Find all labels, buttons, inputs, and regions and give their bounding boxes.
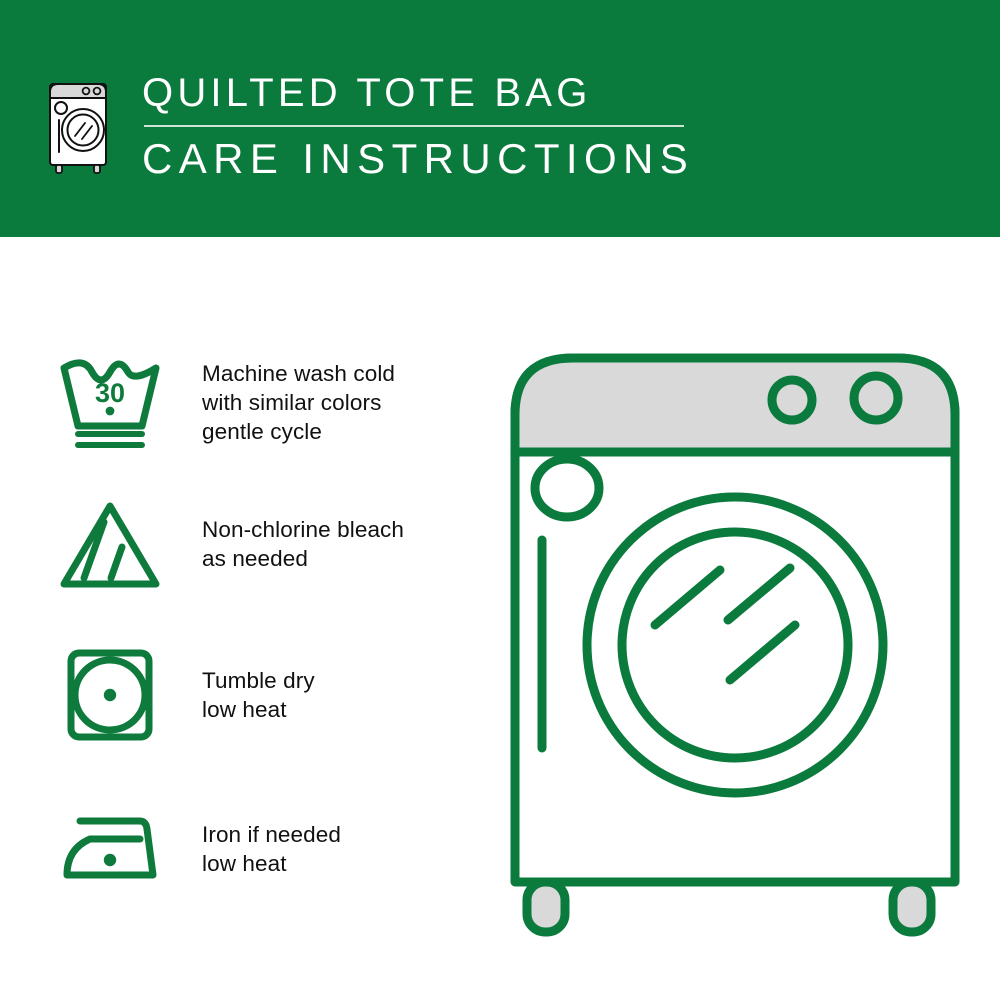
triangle-non-chlorine-bleach-icon xyxy=(50,489,170,599)
care-label: Iron if needed low heat xyxy=(202,820,341,878)
page-title-primary: QUILTED TOTE BAG xyxy=(142,70,842,116)
front-load-washing-machine-illustration xyxy=(485,330,985,940)
care-symbol-list: 30 Machine wash cold with similar colors… xyxy=(0,237,500,1000)
care-row: 30 Machine wash cold with similar colors… xyxy=(50,347,480,457)
care-label: Machine wash cold with similar colors ge… xyxy=(202,359,395,446)
care-row: Non-chlorine bleach as needed xyxy=(50,489,480,599)
header-band: QUILTED TOTE BAG CARE INSTRUCTIONS xyxy=(0,0,1000,237)
care-instructions-infographic: QUILTED TOTE BAG CARE INSTRUCTIONS 30 xyxy=(0,0,1000,1000)
care-label: Tumble dry low heat xyxy=(202,666,315,724)
foot-left xyxy=(527,882,565,932)
care-row: Iron if needed low heat xyxy=(50,794,480,904)
wash-tub-30-gentle-icon: 30 xyxy=(50,347,170,457)
page-title-secondary: CARE INSTRUCTIONS xyxy=(142,135,842,183)
wash-temperature-value: 30 xyxy=(95,378,125,408)
iron-low-heat-icon xyxy=(50,794,170,904)
tumble-dry-low-heat-icon xyxy=(50,640,170,750)
header-title-group: QUILTED TOTE BAG CARE INSTRUCTIONS xyxy=(142,70,842,183)
foot-right xyxy=(893,882,931,932)
washing-machine-icon xyxy=(45,68,113,176)
care-row: Tumble dry low heat xyxy=(50,640,480,750)
care-label: Non-chlorine bleach as needed xyxy=(202,515,404,573)
control-panel xyxy=(515,358,955,452)
title-divider xyxy=(144,125,684,127)
